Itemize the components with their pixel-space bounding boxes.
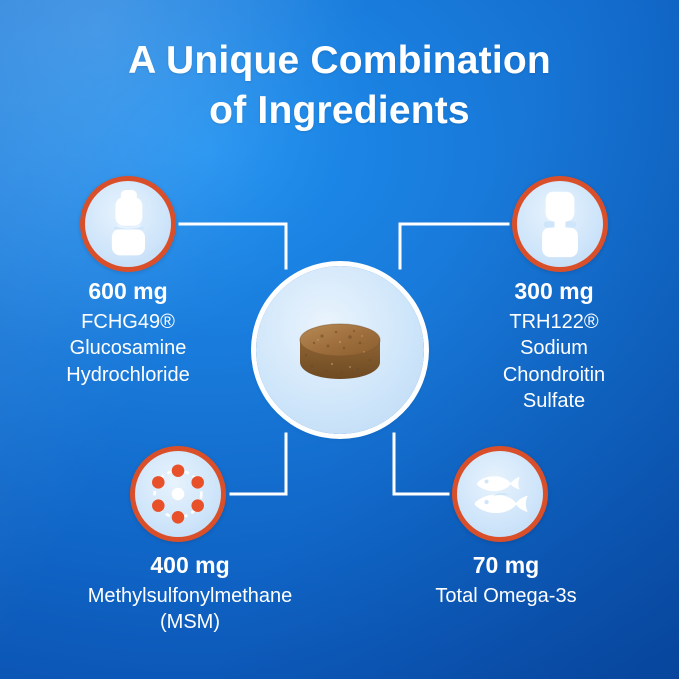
center-tablet-circle [256, 266, 424, 434]
fish-icon [457, 451, 543, 537]
line-bottom-right [394, 434, 448, 494]
joint-bone-icon [85, 181, 171, 267]
name-bottom-left-line-2: (MSM) [24, 609, 356, 636]
name-bottom-right-line-1: Total Omega-3s [356, 583, 656, 610]
name-top-left-line-1: FCHG49® [26, 309, 230, 336]
label-bottom-left: 400 mg Methylsulfonylmethane (MSM) [24, 550, 356, 636]
label-top-right: 300 mg TRH122® Sodium Chondroitin Sulfat… [452, 276, 656, 415]
molecule-icon [135, 451, 221, 537]
line-top-right [400, 224, 508, 268]
bubble-bottom-right [452, 446, 548, 542]
title-line-1: A Unique Combination [128, 39, 551, 82]
line-bottom-left [231, 434, 286, 494]
name-top-right-line-3: Chondroitin [452, 362, 656, 389]
amount-bottom-left: 400 mg [24, 550, 356, 581]
name-top-left-line-3: Hydrochloride [26, 362, 230, 389]
joint-bone-icon [517, 181, 603, 267]
bubble-bottom-left [130, 446, 226, 542]
bubble-top-right [512, 176, 608, 272]
page-title: A Unique Combination of Ingredients [0, 36, 679, 136]
label-bottom-right: 70 mg Total Omega-3s [356, 550, 656, 609]
name-bottom-left-line-1: Methylsulfonylmethane [24, 583, 356, 610]
amount-bottom-right: 70 mg [356, 550, 656, 581]
bubble-top-left [80, 176, 176, 272]
name-top-right-line-1: TRH122® [452, 309, 656, 336]
ingredients-infographic: A Unique Combination of Ingredients [0, 0, 679, 679]
name-top-left-line-2: Glucosamine [26, 335, 230, 362]
line-top-left [180, 224, 286, 268]
amount-top-right: 300 mg [452, 276, 656, 307]
name-top-right-line-4: Sulfate [452, 388, 656, 415]
name-top-right-line-2: Sodium [452, 335, 656, 362]
label-top-left: 600 mg FCHG49® Glucosamine Hydrochloride [26, 276, 230, 388]
chewable-tablet-icon [292, 322, 388, 384]
amount-top-left: 600 mg [26, 276, 230, 307]
title-line-2: of Ingredients [0, 86, 679, 136]
